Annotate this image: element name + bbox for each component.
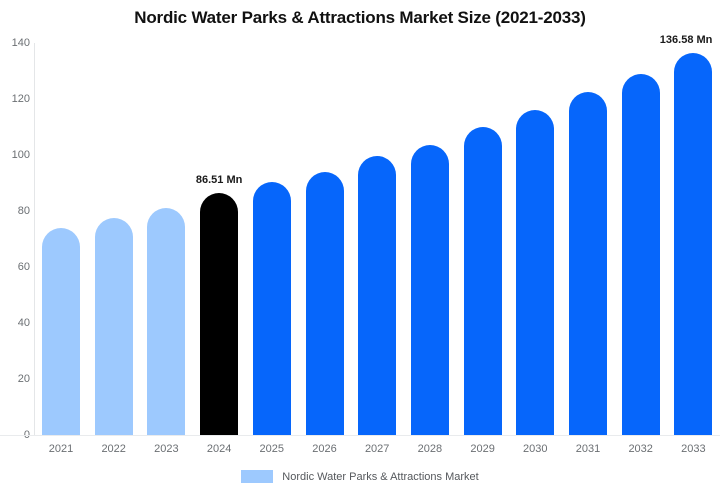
y-axis-tick-label: 80	[4, 205, 30, 217]
bar[interactable]	[42, 228, 80, 435]
bar[interactable]	[253, 182, 291, 435]
x-axis-tick-label: 2025	[253, 443, 291, 455]
y-axis-tick-label: 20	[4, 373, 30, 385]
bar-group[interactable]	[516, 43, 554, 435]
bar-group[interactable]	[95, 43, 133, 435]
y-axis-tick-label: 40	[4, 317, 30, 329]
bar[interactable]	[358, 156, 396, 435]
bar-value-label: 86.51 Mn	[196, 174, 242, 186]
bar-group[interactable]	[569, 43, 607, 435]
bar[interactable]	[306, 172, 344, 435]
chart-title: Nordic Water Parks & Attractions Market …	[0, 8, 720, 28]
x-axis-tick-label: 2029	[464, 443, 502, 455]
bar-group[interactable]	[464, 43, 502, 435]
x-axis-tick-label: 2021	[42, 443, 80, 455]
bar-group[interactable]	[147, 43, 185, 435]
x-axis-line	[0, 435, 720, 436]
bar[interactable]	[569, 92, 607, 435]
bar-group[interactable]	[358, 43, 396, 435]
bar[interactable]	[147, 208, 185, 435]
x-axis-tick-label: 2027	[358, 443, 396, 455]
bar-group[interactable]	[253, 43, 291, 435]
legend-swatch-icon	[241, 470, 273, 483]
bar-value-label: 136.58 Mn	[660, 34, 713, 46]
bar[interactable]	[674, 53, 712, 435]
bar-group[interactable]	[411, 43, 449, 435]
x-axis-tick-label: 2033	[674, 443, 712, 455]
chart-legend: Nordic Water Parks & Attractions Market	[0, 470, 720, 483]
bar-group[interactable]	[306, 43, 344, 435]
x-axis-tick-label: 2031	[569, 443, 607, 455]
bar-group[interactable]	[42, 43, 80, 435]
x-axis-tick-label: 2032	[622, 443, 660, 455]
bar[interactable]	[200, 193, 238, 435]
y-axis-tick-label: 140	[4, 37, 30, 49]
bar[interactable]	[464, 127, 502, 435]
y-axis-tick-label: 60	[4, 261, 30, 273]
bar[interactable]	[411, 145, 449, 435]
x-axis-tick-label: 2030	[516, 443, 554, 455]
y-axis-tick-label: 120	[4, 93, 30, 105]
bar[interactable]	[95, 218, 133, 435]
bar-chart: Nordic Water Parks & Attractions Market …	[0, 0, 720, 500]
legend-label: Nordic Water Parks & Attractions Market	[282, 471, 478, 483]
bar-group[interactable]: 136.58 Mn	[674, 43, 712, 435]
x-axis-tick-label: 2026	[306, 443, 344, 455]
y-axis-tick-label: 100	[4, 149, 30, 161]
x-axis-tick-label: 2023	[147, 443, 185, 455]
y-axis-ticks: 020406080100120140	[0, 0, 30, 500]
bar[interactable]	[622, 74, 660, 435]
x-axis-tick-label: 2028	[411, 443, 449, 455]
x-axis-tick-label: 2024	[200, 443, 238, 455]
bar-group[interactable]	[622, 43, 660, 435]
bar[interactable]	[516, 110, 554, 435]
x-axis-tick-label: 2022	[95, 443, 133, 455]
bar-group[interactable]: 86.51 Mn	[200, 43, 238, 435]
plot-area: 86.51 Mn136.58 Mn	[34, 43, 720, 435]
